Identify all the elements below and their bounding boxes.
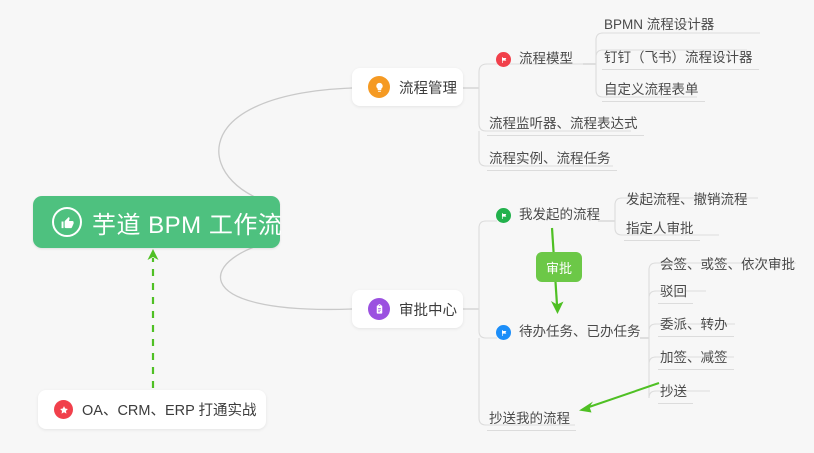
node-reject[interactable]: 驳回 — [658, 278, 693, 304]
node-start-cancel-process-label: 发起流程、撤销流程 — [626, 188, 748, 208]
node-oa-crm-erp[interactable]: OA、CRM、ERP 打通实战 — [38, 390, 266, 429]
node-todo-done-task[interactable]: 待办任务、已办任务 — [494, 317, 647, 343]
node-todo-done-task-label: 待办任务、已办任务 — [519, 320, 641, 340]
node-dingtalk-feishu-designer[interactable]: 钉钉（飞书）流程设计器 — [602, 44, 759, 70]
node-approve-center-label: 审批中心 — [399, 299, 457, 320]
root-node[interactable]: 芋道 BPM 工作流 — [33, 196, 280, 248]
node-dingtalk-feishu-designer-label: 钉钉（飞书）流程设计器 — [604, 46, 753, 66]
node-add-remove-sign-label: 加签、减签 — [660, 346, 728, 366]
node-my-started-process[interactable]: 我发起的流程 — [494, 200, 606, 226]
node-approve-center[interactable]: 审批中心 — [352, 290, 463, 328]
thumbs-up-icon — [52, 207, 82, 237]
flag-icon — [496, 208, 511, 223]
node-my-started-process-label: 我发起的流程 — [519, 203, 600, 223]
node-countersign-label: 会签、或签、依次审批 — [660, 253, 795, 273]
lightbulb-icon — [368, 76, 390, 98]
node-process-model-label: 流程模型 — [519, 47, 573, 67]
approve-badge[interactable]: 审批 — [536, 252, 582, 282]
node-reject-label: 驳回 — [660, 280, 687, 300]
approve-badge-label: 审批 — [546, 258, 572, 277]
node-add-remove-sign[interactable]: 加签、减签 — [658, 344, 734, 370]
node-process-model[interactable]: 流程模型 — [494, 44, 579, 70]
node-process-mgmt[interactable]: 流程管理 — [352, 68, 463, 106]
node-delegate-transfer[interactable]: 委派、转办 — [658, 311, 734, 337]
node-process-mgmt-label: 流程管理 — [399, 77, 457, 98]
node-assignee-approve[interactable]: 指定人审批 — [624, 215, 700, 241]
node-process-instance[interactable]: 流程实例、流程任务 — [487, 145, 617, 171]
node-delegate-transfer-label: 委派、转办 — [660, 313, 728, 333]
root-node-label: 芋道 BPM 工作流 — [92, 205, 282, 240]
node-carbon-copy[interactable]: 抄送 — [658, 378, 693, 404]
node-start-cancel-process[interactable]: 发起流程、撤销流程 — [624, 185, 754, 211]
edge-root-to-process-mgmt — [219, 88, 352, 205]
clipboard-icon — [368, 298, 390, 320]
flag-icon — [496, 325, 511, 340]
edge-root-to-approve-center — [220, 240, 352, 309]
node-countersign[interactable]: 会签、或签、依次审批 — [658, 250, 801, 276]
node-cc-to-me-process[interactable]: 抄送我的流程 — [487, 405, 576, 431]
node-bpmn-designer-label: BPMN 流程设计器 — [604, 13, 714, 33]
node-carbon-copy-label: 抄送 — [660, 380, 687, 400]
node-cc-to-me-process-label: 抄送我的流程 — [489, 407, 570, 427]
node-custom-process-form-label: 自定义流程表单 — [604, 78, 699, 98]
node-process-listener[interactable]: 流程监听器、流程表达式 — [487, 110, 644, 136]
arrow-cc-to-cc-my-process — [579, 383, 659, 413]
flag-icon — [496, 52, 511, 67]
node-process-instance-label: 流程实例、流程任务 — [489, 147, 611, 167]
node-custom-process-form[interactable]: 自定义流程表单 — [602, 76, 705, 102]
node-oa-crm-erp-label: OA、CRM、ERP 打通实战 — [82, 399, 257, 420]
node-process-listener-label: 流程监听器、流程表达式 — [489, 112, 638, 132]
arrow-oa-to-root — [148, 249, 159, 388]
star-icon — [54, 400, 73, 419]
mindmap-canvas: 芋道 BPM 工作流 流程管理 流程模型 BPMN 流程设计器 钉钉（飞书）流程… — [0, 0, 814, 453]
node-bpmn-designer[interactable]: BPMN 流程设计器 — [602, 10, 720, 36]
node-assignee-approve-label: 指定人审批 — [626, 217, 694, 237]
